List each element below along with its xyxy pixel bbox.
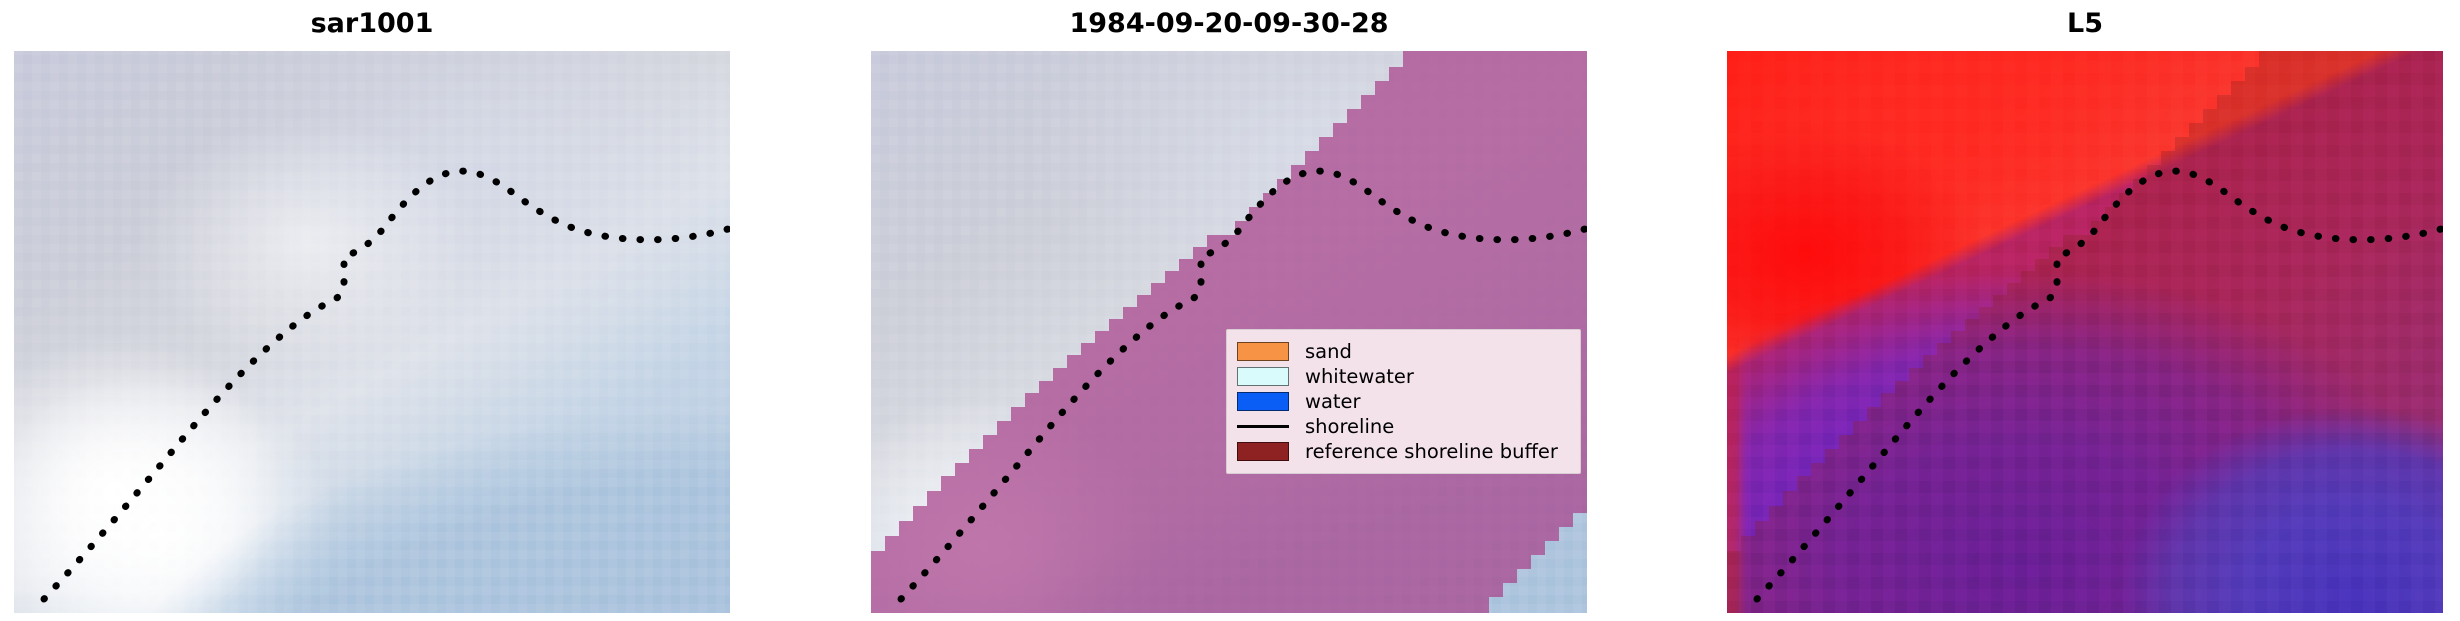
- figure-canvas: sar1001 1984-09-20-09-30-28: [0, 0, 2460, 621]
- legend-label-shoreline: shoreline: [1305, 417, 1394, 437]
- legend-item-reference-shoreline-buffer: reference shoreline buffer: [1237, 439, 1568, 464]
- shoreline-dotted-line: [1727, 51, 2443, 613]
- legend-box[interactable]: sand whitewater water shoreline referenc…: [1226, 329, 1581, 474]
- image-panel-sar1001[interactable]: [14, 51, 730, 613]
- panel-title-sar1001: sar1001: [14, 8, 730, 39]
- legend-item-water: water: [1237, 389, 1568, 414]
- shoreline-dotted-line: [14, 51, 730, 613]
- legend-swatch-reference-shoreline-buffer: [1237, 442, 1289, 461]
- panel-title-date: 1984-09-20-09-30-28: [871, 8, 1587, 39]
- image-panel-date[interactable]: sand whitewater water shoreline referenc…: [871, 51, 1587, 613]
- legend-label-sand: sand: [1305, 342, 1352, 362]
- legend-label-whitewater: whitewater: [1305, 367, 1414, 387]
- legend-swatch-sand: [1237, 342, 1289, 361]
- legend-swatch-shoreline: [1237, 425, 1289, 428]
- panel-title-l5: L5: [1727, 8, 2443, 39]
- image-panel-l5[interactable]: [1727, 51, 2443, 613]
- legend-item-sand: sand: [1237, 339, 1568, 364]
- legend-item-shoreline: shoreline: [1237, 414, 1568, 439]
- legend-label-reference-shoreline-buffer: reference shoreline buffer: [1305, 442, 1558, 462]
- legend-swatch-water: [1237, 392, 1289, 411]
- legend-item-whitewater: whitewater: [1237, 364, 1568, 389]
- legend-label-water: water: [1305, 392, 1361, 412]
- legend-swatch-whitewater: [1237, 367, 1289, 386]
